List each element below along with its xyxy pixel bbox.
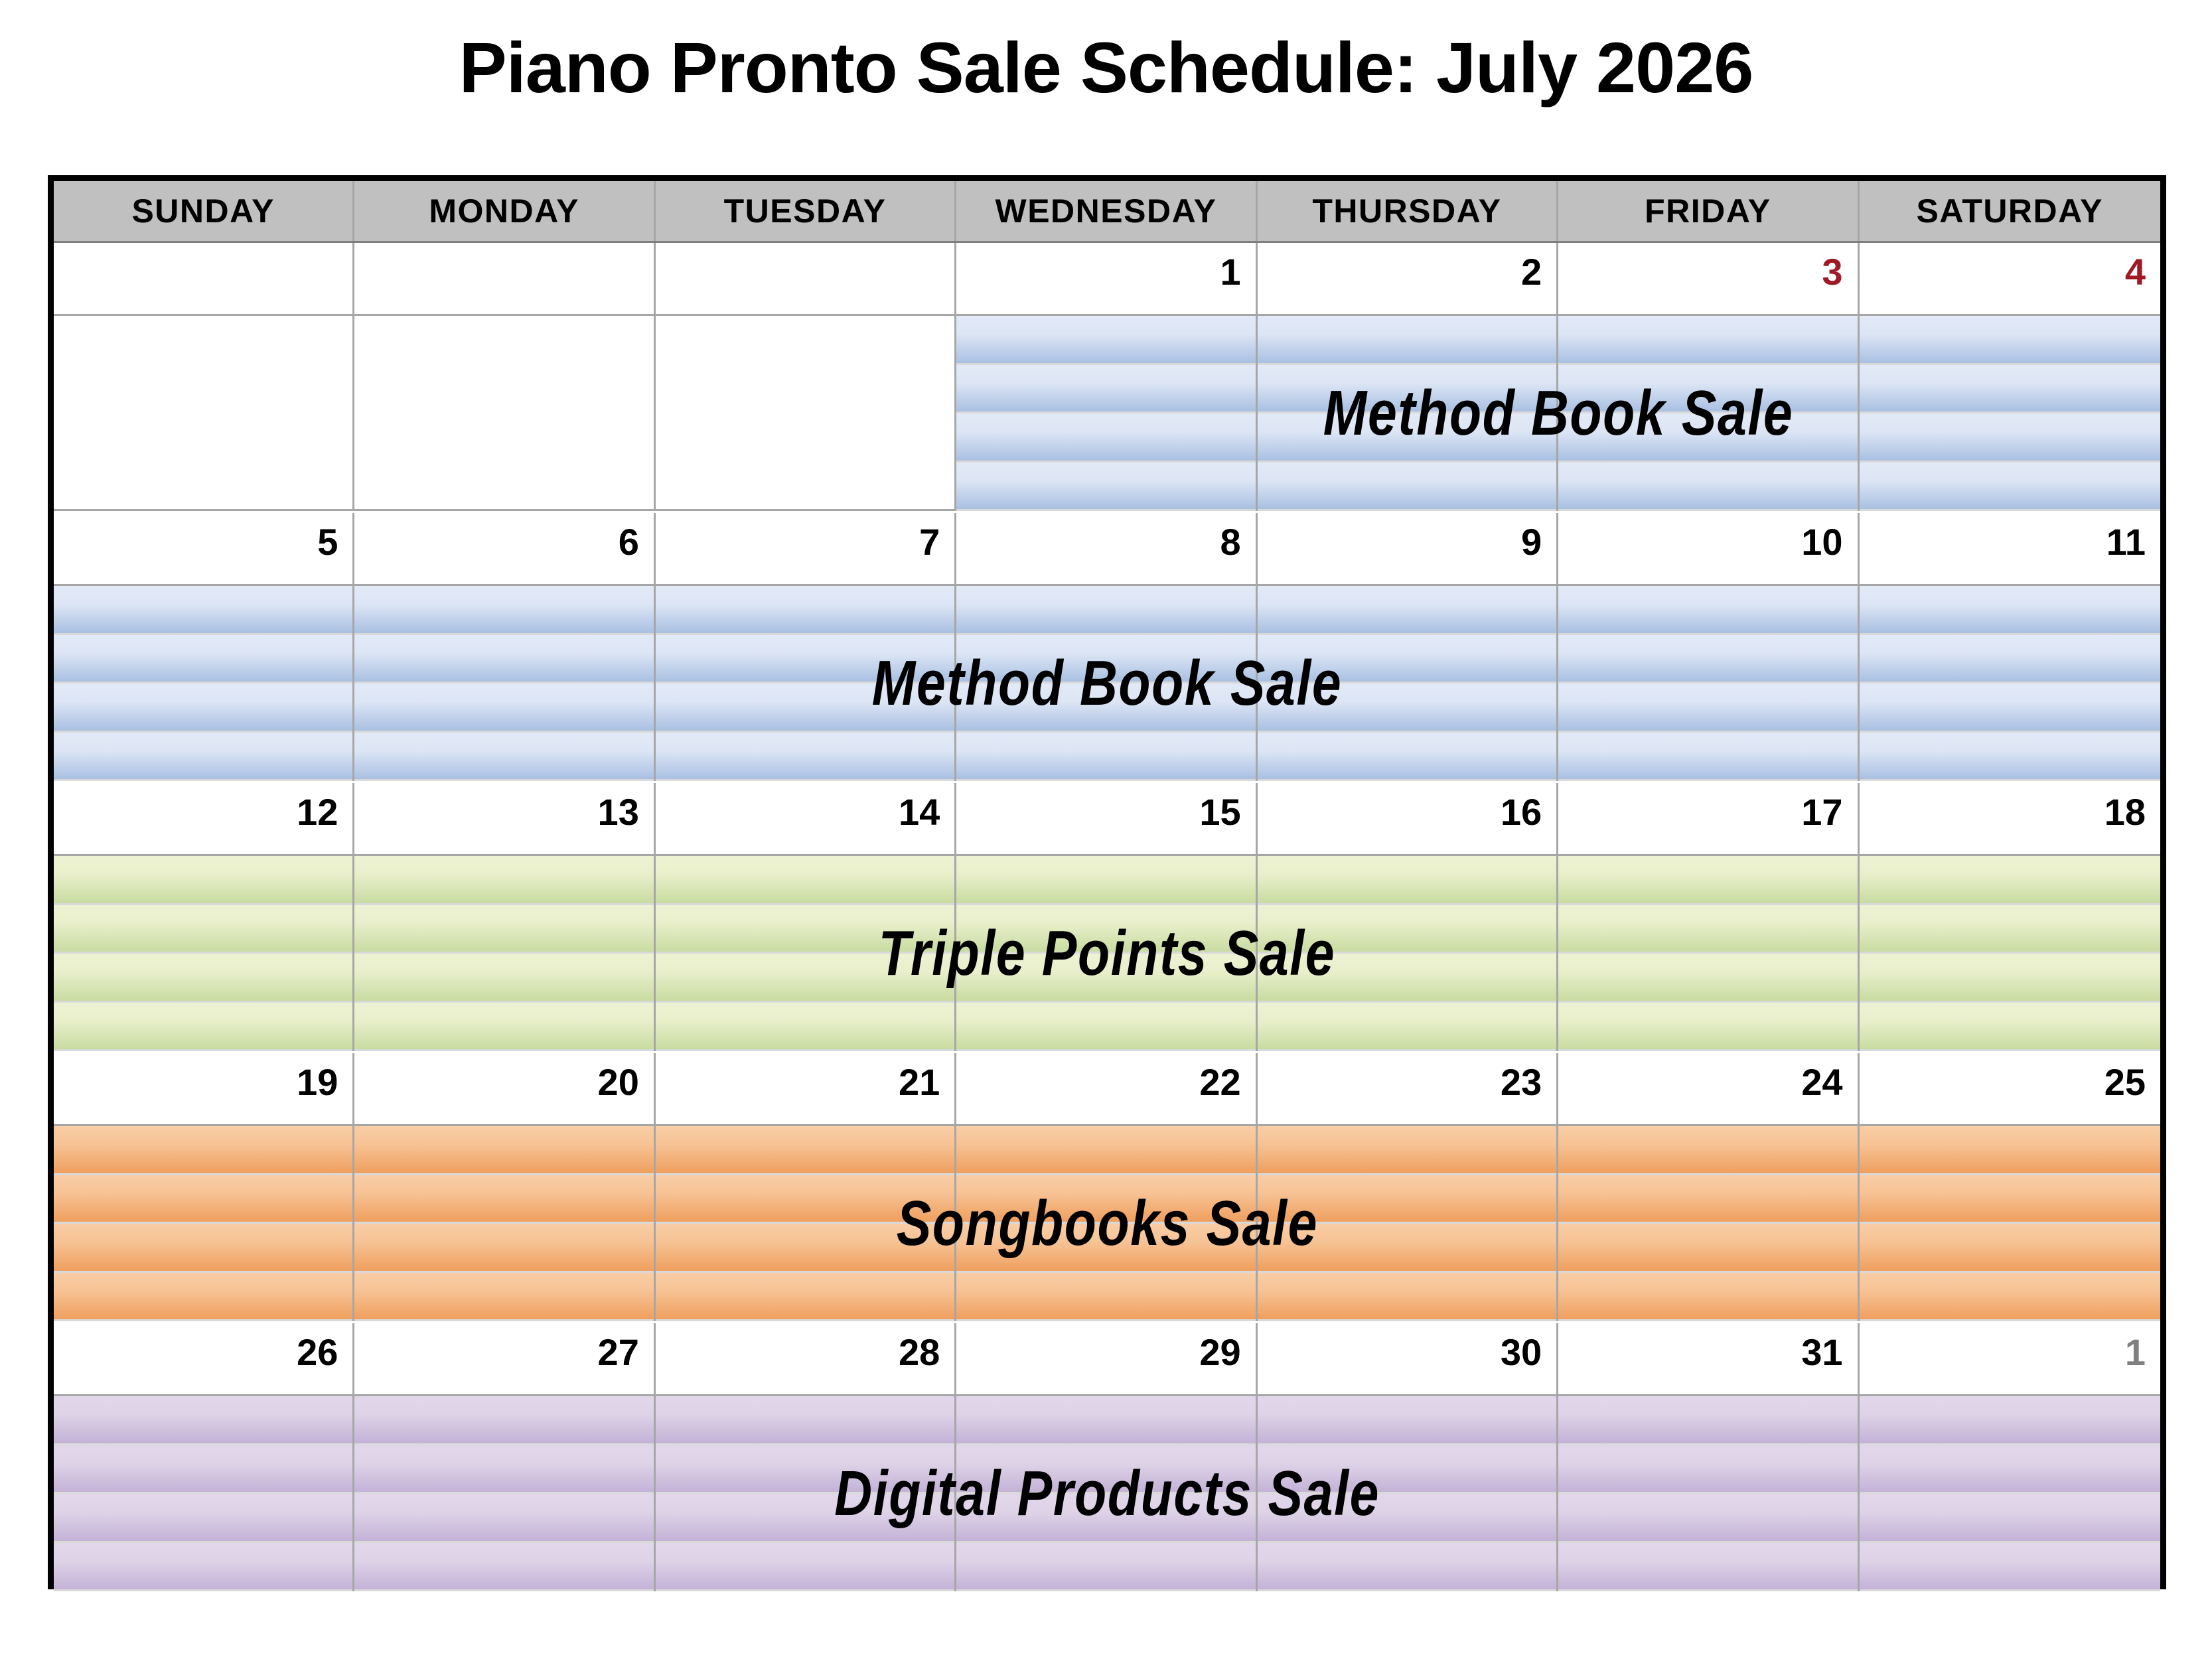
grid-column-line (1558, 586, 1859, 781)
week-date-cells: 567891011 (54, 513, 2160, 586)
week-date-cells: 2627282930311 (54, 1323, 2160, 1396)
weekday-header-saturday: SATURDAY (1860, 181, 2160, 241)
page-title: Piano Pronto Sale Schedule: July 2026 (0, 27, 2212, 109)
grid-column-line (1860, 856, 2160, 1051)
grid-column-line (354, 856, 655, 1051)
day-cell-29[interactable]: 29 (956, 1323, 1257, 1396)
day-cell-30[interactable]: 30 (1258, 1323, 1558, 1396)
event-label: Method Book Sale (872, 647, 1343, 720)
day-cell-28[interactable]: 28 (656, 1323, 956, 1396)
day-cell-22[interactable]: 22 (956, 1053, 1257, 1126)
grid-column-line (54, 586, 354, 781)
grid-column-line (354, 1126, 655, 1321)
calendar-week-row: Triple Points Sale12131415161718 (54, 783, 2160, 1053)
grid-column-line (354, 1396, 655, 1591)
day-cell-17[interactable]: 17 (1558, 783, 1859, 856)
weekday-header-tuesday: TUESDAY (656, 181, 956, 241)
day-cell-13[interactable]: 13 (354, 783, 655, 856)
grid-column-line (54, 856, 354, 1051)
day-cell-6[interactable]: 6 (354, 513, 655, 586)
day-cell-8[interactable]: 8 (956, 513, 1257, 586)
day-cell-4[interactable]: 4 (1860, 243, 2160, 316)
grid-column-line (354, 586, 655, 781)
grid-column-line (1860, 1396, 2160, 1591)
day-cell-19[interactable]: 19 (54, 1053, 354, 1126)
day-cell-14[interactable]: 14 (656, 783, 956, 856)
calendar-week-row: Method Book Sale567891011 (54, 513, 2160, 783)
day-cell-12[interactable]: 12 (54, 783, 354, 856)
day-cell-31[interactable]: 31 (1558, 1323, 1859, 1396)
event-label: Digital Products Sale (834, 1457, 1380, 1530)
grid-column-line (956, 316, 1257, 511)
day-cell-1[interactable]: 1 (1860, 1323, 2160, 1396)
day-cell-20[interactable]: 20 (354, 1053, 655, 1126)
day-cell-3[interactable]: 3 (1558, 243, 1859, 316)
weekday-header-sunday: SUNDAY (54, 181, 354, 241)
day-cell-empty (54, 243, 354, 316)
week-date-cells: 12131415161718 (54, 783, 2160, 856)
day-cell-15[interactable]: 15 (956, 783, 1257, 856)
event-band-method-book-sale[interactable]: Method Book Sale (54, 586, 2160, 781)
day-cell-7[interactable]: 7 (656, 513, 956, 586)
day-cell-25[interactable]: 25 (1860, 1053, 2160, 1126)
day-cell-18[interactable]: 18 (1860, 783, 2160, 856)
day-cell-21[interactable]: 21 (656, 1053, 956, 1126)
calendar-week-row: Method Book Sale1234 (54, 243, 2160, 513)
weekday-header-wednesday: WEDNESDAY (956, 181, 1257, 241)
grid-column-line (1558, 1396, 1859, 1591)
event-band-digital-products-sale[interactable]: Digital Products Sale (54, 1396, 2160, 1591)
day-cell-body (354, 316, 655, 511)
week-date-cells: 19202122232425 (54, 1053, 2160, 1126)
calendar-weeks: Method Book Sale1234Method Book Sale5678… (54, 243, 2160, 1593)
day-cell-empty (656, 243, 956, 316)
event-label: Method Book Sale (1323, 377, 1794, 450)
day-cell-5[interactable]: 5 (54, 513, 354, 586)
day-cell-23[interactable]: 23 (1258, 1053, 1558, 1126)
calendar-week-row: Digital Products Sale2627282930311 (54, 1323, 2160, 1593)
day-cell-body (54, 316, 354, 511)
event-band-songbooks-sale[interactable]: Songbooks Sale (54, 1126, 2160, 1321)
event-label: Triple Points Sale (879, 917, 1336, 990)
calendar-week-row: Songbooks Sale19202122232425 (54, 1053, 2160, 1323)
weekday-header-friday: FRIDAY (1558, 181, 1859, 241)
day-cell-26[interactable]: 26 (54, 1323, 354, 1396)
day-cell-1[interactable]: 1 (956, 243, 1257, 316)
day-cell-11[interactable]: 11 (1860, 513, 2160, 586)
day-cell-24[interactable]: 24 (1558, 1053, 1859, 1126)
calendar-grid: SUNDAYMONDAYTUESDAYWEDNESDAYTHURSDAYFRID… (48, 175, 2166, 1589)
day-cell-2[interactable]: 2 (1258, 243, 1558, 316)
weekday-header-thursday: THURSDAY (1258, 181, 1558, 241)
day-cell-10[interactable]: 10 (1558, 513, 1859, 586)
day-cell-body (656, 316, 956, 511)
weekday-header-monday: MONDAY (354, 181, 655, 241)
weekday-header-row: SUNDAYMONDAYTUESDAYWEDNESDAYTHURSDAYFRID… (54, 181, 2160, 243)
week-date-cells: 1234 (54, 243, 2160, 316)
grid-column-line (54, 1396, 354, 1591)
grid-column-line (1860, 1126, 2160, 1321)
grid-column-line (54, 1126, 354, 1321)
grid-column-line (1860, 586, 2160, 781)
event-band-triple-points-sale[interactable]: Triple Points Sale (54, 856, 2160, 1051)
event-label: Songbooks Sale (896, 1187, 1317, 1260)
grid-column-line (1860, 316, 2160, 511)
day-cell-27[interactable]: 27 (354, 1323, 655, 1396)
grid-column-line (1558, 1126, 1859, 1321)
calendar-page: Piano Pronto Sale Schedule: July 2026 SU… (0, 0, 2212, 1659)
day-cell-empty (354, 243, 655, 316)
day-cell-16[interactable]: 16 (1258, 783, 1558, 856)
grid-column-line (1558, 856, 1859, 1051)
day-cell-9[interactable]: 9 (1258, 513, 1558, 586)
event-band-method-book-sale[interactable]: Method Book Sale (956, 316, 2160, 511)
